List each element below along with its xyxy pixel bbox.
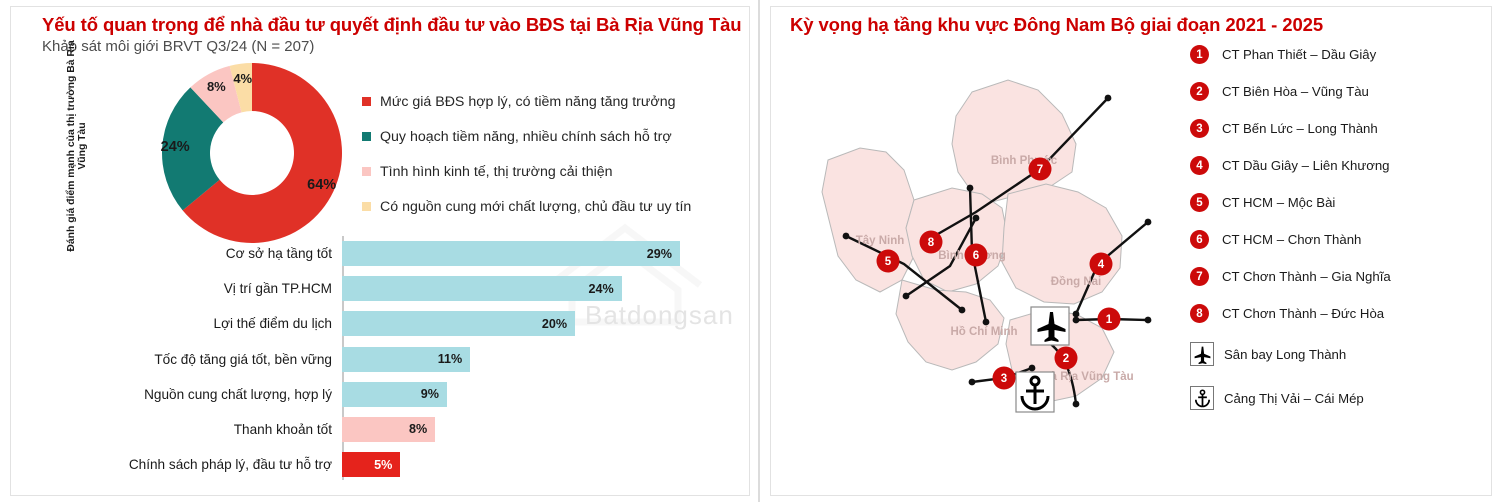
badge-number: 3 <box>1001 373 1007 385</box>
map-route-endpoint <box>1105 95 1112 102</box>
route-legend-badge: 2 <box>1190 82 1209 101</box>
infographic-root: Yếu tố quan trọng để nhà đầu tư quyết đị… <box>0 0 1500 502</box>
bar-chart-axis-title: Đánh giá điểm mạnh của thị trường Bà Rịa… <box>66 28 88 264</box>
bar-fill: 8% <box>342 417 435 442</box>
map-route-endpoint <box>843 233 850 240</box>
right-panel-title: Kỳ vọng hạ tầng khu vực Đông Nam Bộ giai… <box>790 14 1323 36</box>
bar-track: 11% <box>342 342 730 377</box>
donut-slice-label-4: 4% <box>226 71 260 86</box>
badge-number: 7 <box>1037 164 1043 176</box>
donut-slice-label-2: 24% <box>158 139 192 155</box>
route-legend-label: CT HCM – Mộc Bài <box>1222 195 1335 210</box>
bar-fill: 29% <box>342 241 680 266</box>
map-route-badge-7[interactable]: 7 <box>1029 158 1052 181</box>
bar-row: Tốc độ tăng giá tốt, bền vững11% <box>94 342 730 377</box>
bar-row: Cơ sở hạ tầng tốt29% <box>94 236 730 271</box>
map-legend-item[interactable]: Cảng Thị Vải – Cái Mép <box>1190 376 1490 420</box>
map-province-shape <box>822 148 916 292</box>
route-legend-item-4[interactable]: 4CT Dầu Giây – Liên Khương <box>1190 147 1490 184</box>
route-legend-item-5[interactable]: 5CT HCM – Mộc Bài <box>1190 184 1490 221</box>
badge-number: 5 <box>885 256 892 268</box>
badge-number: 6 <box>973 250 979 262</box>
map-legend-label: Sân bay Long Thành <box>1224 347 1346 362</box>
bar-fill: 20% <box>342 311 575 336</box>
map-route-endpoint <box>1145 219 1152 226</box>
route-legend-item-8[interactable]: 8CT Chơn Thành – Đức Hòa <box>1190 295 1490 332</box>
left-panel: Yếu tố quan trọng để nhà đầu tư quyết đị… <box>0 0 760 502</box>
bar-category-label: Cơ sở hạ tầng tốt <box>94 246 342 261</box>
map-route-badge-4[interactable]: 4 <box>1090 253 1113 276</box>
route-legend-badge: 4 <box>1190 156 1209 175</box>
donut-legend-item: Có nguồn cung mới chất lượng, chủ đầu tư… <box>362 189 754 224</box>
bar-category-label: Vị trí gần TP.HCM <box>94 281 342 296</box>
bar-fill: 9% <box>342 382 447 407</box>
left-panel-title: Yếu tố quan trọng để nhà đầu tư quyết đị… <box>42 14 742 36</box>
anchor-icon <box>1190 386 1214 410</box>
map-route-endpoint <box>973 215 980 222</box>
map-route-endpoint <box>983 319 990 326</box>
map-route-endpoint <box>969 379 976 386</box>
bar-category-label: Lợi thế điểm du lịch <box>94 316 342 331</box>
bar-value-label: 8% <box>409 422 435 436</box>
southeast-region-map: Bình PhướcTây NinhBình DươngĐồng NaiHồ C… <box>776 52 1196 482</box>
route-legend: 1CT Phan Thiết – Dầu Giây2CT Biên Hòa – … <box>1190 36 1490 420</box>
donut-legend-label: Quy hoạch tiềm năng, nhiều chính sách hỗ… <box>380 129 672 145</box>
bar-category-label: Chính sách pháp lý, đầu tư hỗ trợ <box>94 457 342 472</box>
legend-swatch-icon <box>362 97 371 106</box>
bar-category-label: Tốc độ tăng giá tốt, bền vững <box>94 352 342 367</box>
route-legend-badge: 3 <box>1190 119 1209 138</box>
donut-chart: 64%24%8%4% <box>152 58 352 248</box>
map-route-endpoint <box>1073 311 1080 318</box>
bar-chart-rows: Cơ sở hạ tầng tốt29%Vị trí gần TP.HCM24%… <box>94 236 730 482</box>
legend-swatch-icon <box>362 202 371 211</box>
map-province-shape <box>952 80 1076 202</box>
bar-track: 20% <box>342 306 730 341</box>
map-route-endpoint <box>1145 317 1152 324</box>
map-route-endpoint <box>959 307 966 314</box>
map-route-badge-8[interactable]: 8 <box>920 231 943 254</box>
map-port-icon <box>1016 372 1054 412</box>
bar-fill: 5% <box>342 452 400 477</box>
map-legend-item[interactable]: Sân bay Long Thành <box>1190 332 1490 376</box>
bar-value-label: 29% <box>647 247 680 261</box>
route-legend-item-1[interactable]: 1CT Phan Thiết – Dầu Giây <box>1190 36 1490 73</box>
route-legend-badge: 6 <box>1190 230 1209 249</box>
route-legend-badge: 7 <box>1190 267 1209 286</box>
bar-track: 29% <box>342 236 730 271</box>
route-legend-item-7[interactable]: 7CT Chơn Thành – Gia Nghĩa <box>1190 258 1490 295</box>
route-legend-badge: 5 <box>1190 193 1209 212</box>
donut-legend-label: Tình hình kinh tế, thị trường cải thiện <box>380 164 613 180</box>
bar-value-label: 11% <box>438 352 471 366</box>
route-legend-label: CT Biên Hòa – Vũng Tàu <box>1222 84 1369 99</box>
map-route-badge-3[interactable]: 3 <box>993 367 1016 390</box>
bar-track: 5% <box>342 447 730 482</box>
bar-fill: 24% <box>342 276 622 301</box>
bar-row: Lợi thế điểm du lịch20% <box>94 306 730 341</box>
route-legend-label: CT Chơn Thành – Gia Nghĩa <box>1222 269 1391 284</box>
map-route-endpoint <box>967 185 974 192</box>
donut-slice-label-1: 64% <box>305 177 339 193</box>
legend-swatch-icon <box>362 167 371 176</box>
map-route-badge-5[interactable]: 5 <box>877 250 900 273</box>
map-province-shape <box>896 280 1004 370</box>
badge-number: 2 <box>1063 353 1069 365</box>
map-province-name: Hồ Chí Minh <box>950 326 1017 338</box>
route-legend-badge: 8 <box>1190 304 1209 323</box>
donut-legend-item: Tình hình kinh tế, thị trường cải thiện <box>362 154 754 189</box>
bar-track: 8% <box>342 412 730 447</box>
map-route-badge-2[interactable]: 2 <box>1055 347 1078 370</box>
donut-legend-item: Mức giá BĐS hợp lý, có tiềm năng tăng tr… <box>362 84 754 119</box>
badge-number: 4 <box>1098 259 1105 271</box>
donut-legend: Mức giá BĐS hợp lý, có tiềm năng tăng tr… <box>362 84 754 224</box>
route-legend-label: CT Bến Lức – Long Thành <box>1222 121 1378 136</box>
donut-legend-item: Quy hoạch tiềm năng, nhiều chính sách hỗ… <box>362 119 754 154</box>
map-route-badge-6[interactable]: 6 <box>965 244 988 267</box>
route-legend-item-3[interactable]: 3CT Bến Lức – Long Thành <box>1190 110 1490 147</box>
route-legend-label: CT Dầu Giây – Liên Khương <box>1222 158 1390 173</box>
airplane-icon <box>1190 342 1214 366</box>
bar-row: Nguồn cung chất lượng, hợp lý9% <box>94 377 730 412</box>
map-route-endpoint <box>1073 401 1080 408</box>
route-legend-badge: 1 <box>1190 45 1209 64</box>
donut-legend-label: Mức giá BĐS hợp lý, có tiềm năng tăng tr… <box>380 94 675 110</box>
bar-value-label: 9% <box>421 387 447 401</box>
bar-track: 24% <box>342 271 730 306</box>
bar-value-label: 5% <box>374 458 400 472</box>
right-panel: Kỳ vọng hạ tầng khu vực Đông Nam Bộ giai… <box>760 0 1500 502</box>
map-legend-label: Cảng Thị Vải – Cái Mép <box>1224 391 1364 406</box>
badge-number: 8 <box>928 237 935 249</box>
bar-fill: 11% <box>342 347 470 372</box>
route-legend-item-6[interactable]: 6CT HCM – Chơn Thành <box>1190 221 1490 258</box>
route-legend-label: CT Phan Thiết – Dầu Giây <box>1222 47 1376 62</box>
map-route-endpoint <box>1073 317 1080 324</box>
bar-category-label: Nguồn cung chất lượng, hợp lý <box>94 387 342 402</box>
map-province-name: Đồng Nai <box>1051 276 1101 288</box>
donut-legend-label: Có nguồn cung mới chất lượng, chủ đầu tư… <box>380 199 691 215</box>
route-legend-label: CT HCM – Chơn Thành <box>1222 232 1361 247</box>
route-legend-label: CT Chơn Thành – Đức Hòa <box>1222 306 1384 321</box>
map-province-name: Tây Ninh <box>856 235 905 247</box>
route-legend-item-2[interactable]: 2CT Biên Hòa – Vũng Tàu <box>1190 73 1490 110</box>
map-route-endpoint <box>1029 365 1036 372</box>
bar-row: Thanh khoản tốt8% <box>94 412 730 447</box>
map-province-name: Bà Rịa Vũng Tàu <box>1042 371 1133 383</box>
bar-row: Chính sách pháp lý, đầu tư hỗ trợ5% <box>94 447 730 482</box>
map-route-badge-1[interactable]: 1 <box>1098 308 1121 331</box>
bar-track: 9% <box>342 377 730 412</box>
bar-value-label: 24% <box>589 282 622 296</box>
map-airport-icon <box>1031 307 1069 345</box>
bar-row: Vị trí gần TP.HCM24% <box>94 271 730 306</box>
bar-category-label: Thanh khoản tốt <box>94 422 342 437</box>
legend-swatch-icon <box>362 132 371 141</box>
map-route-endpoint <box>903 293 910 300</box>
badge-number: 1 <box>1106 314 1113 326</box>
bar-value-label: 20% <box>542 317 575 331</box>
bar-chart: Đánh giá điểm mạnh của thị trường Bà Rịa… <box>70 236 730 482</box>
